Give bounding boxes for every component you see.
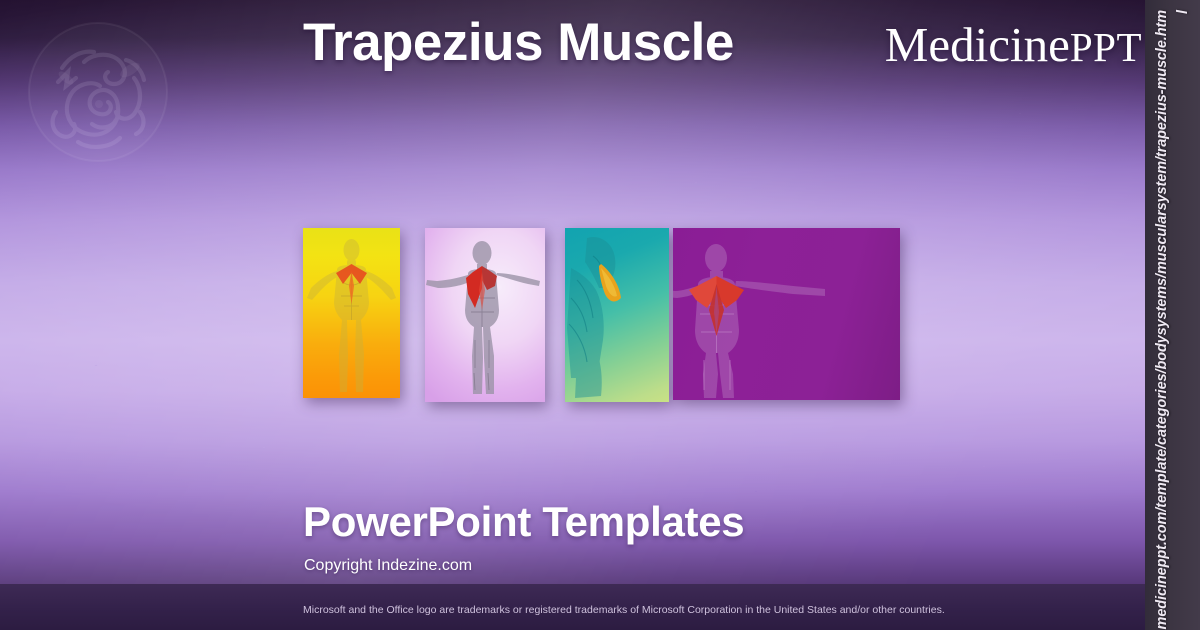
panel-back-purple[interactable] (673, 228, 900, 400)
page-title: Trapezius Muscle (303, 12, 734, 73)
legal-text: Microsoft and the Office logo are tradem… (303, 604, 945, 616)
brand-name: Medicine (885, 17, 1070, 72)
brand-logo: MedicinePPT (885, 16, 1142, 73)
panel-back-pink[interactable] (425, 228, 545, 402)
copyright-text: Copyright Indezine.com (304, 557, 472, 575)
url-sidebar: medicineppt.com/template/categories/body… (1145, 0, 1200, 630)
celtic-spiral-ornament-icon (22, 16, 174, 168)
anatomy-image-strip (303, 228, 900, 402)
brand-suffix: PPT (1070, 24, 1142, 70)
panel-side-teal[interactable] (565, 228, 669, 402)
url-rotated-wrapper: medicineppt.com/template/categories/body… (1152, 0, 1194, 630)
source-url-text[interactable]: medicineppt.com/template/categories/body… (1152, 10, 1194, 630)
slide-canvas: Trapezius Muscle MedicinePPT (0, 0, 1200, 630)
subtitle: PowerPoint Templates (303, 498, 744, 546)
panel-front-thermal[interactable] (303, 228, 400, 398)
